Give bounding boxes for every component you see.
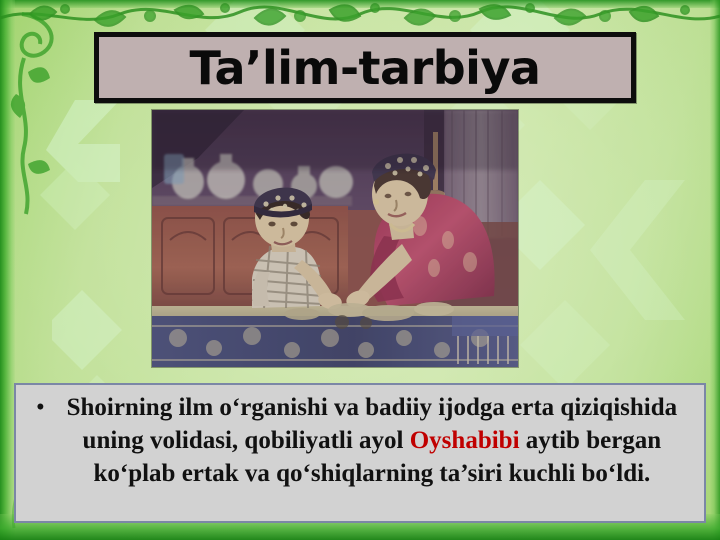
slide: Ta’lim-tarbiya — [0, 0, 720, 540]
floral-scroll-ornament-left — [2, 6, 92, 236]
photo-illustration — [152, 110, 518, 367]
frame-band-right — [710, 0, 720, 540]
body-paragraph: Shoirning ilm o‘rganishi va badiiy ijodg… — [54, 391, 694, 490]
bullet-list-item: • Shoirning ilm o‘rganishi va badiiy ijo… — [26, 391, 694, 490]
floral-vine-ornament-top — [0, 0, 720, 36]
content-photo — [152, 110, 518, 367]
slide-title-box: Ta’lim-tarbiya — [94, 32, 636, 103]
page-title: Ta’lim-tarbiya — [190, 45, 541, 91]
bullet-point-icon: • — [26, 391, 54, 424]
body-text-box: • Shoirning ilm o‘rganishi va badiiy ijo… — [14, 383, 706, 523]
highlighted-name: Oyshabibi — [410, 427, 520, 454]
